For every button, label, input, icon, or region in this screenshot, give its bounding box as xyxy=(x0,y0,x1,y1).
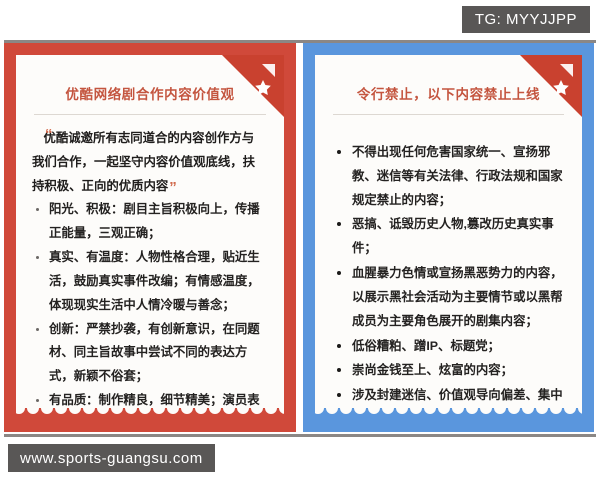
telegram-watermark: TG: MYYJJPP xyxy=(462,6,590,33)
card-body-right: 不得出现任何危害国家统一、宣扬邪教、迷信等有关法律、行政法规和国家规定禁止的内容… xyxy=(315,115,582,406)
site-watermark: www.sports-guangsu.com xyxy=(8,444,215,472)
card-title-right: 令行禁止，以下内容禁止上线 xyxy=(315,55,582,103)
lead-quote-paragraph: “优酷诚邀所有志同道合的内容创作方与我们合作，一起坚守内容价值观底线，扶持积极、… xyxy=(30,127,268,198)
card-content-values: 优酷网络剧合作内容价值观 “优酷诚邀所有志同道合的内容创作方与我们合作，一起坚守… xyxy=(4,43,296,432)
lead-quote-text: 优酷诚邀所有志同道合的内容创作方与我们合作，一起坚守内容价值观底线，扶持积极、正… xyxy=(32,131,255,193)
card-title-left: 优酷网络剧合作内容价值观 xyxy=(16,55,284,103)
list-item: 阳光、积极：剧目主旨积极向上，传播正能量，三观正确； xyxy=(32,198,268,246)
scalloped-edge-left xyxy=(16,406,284,418)
card-sheet-left: 优酷网络剧合作内容价值观 “优酷诚邀所有志同道合的内容创作方与我们合作，一起坚守… xyxy=(16,55,284,406)
bottom-divider-rule xyxy=(4,434,596,437)
card-prohibited-content: 令行禁止，以下内容禁止上线 不得出现任何危害国家统一、宣扬邪教、迷信等有关法律、… xyxy=(303,43,594,432)
list-item: 血腥暴力色情或宣扬黑恶势力的内容，以展示黑社会活动为主要情节或以黑帮成员为主要角… xyxy=(333,262,568,333)
quote-close-mark: ” xyxy=(169,179,177,196)
prohibited-list: 不得出现任何危害国家统一、宣扬邪教、迷信等有关法律、行政法规和国家规定禁止的内容… xyxy=(331,141,568,406)
card-body-left: “优酷诚邀所有志同道合的内容创作方与我们合作，一起坚守内容价值观底线，扶持积极、… xyxy=(16,115,284,406)
quote-open-mark: “ xyxy=(45,126,53,143)
scalloped-edge-right xyxy=(315,406,582,418)
list-item: 涉及封建迷信、价值观导向偏差、集中过度展示人性阴暗面。 xyxy=(333,384,568,406)
list-item: 不得出现任何危害国家统一、宣扬邪教、迷信等有关法律、行政法规和国家规定禁止的内容… xyxy=(333,141,568,212)
list-item: 崇尚金钱至上、炫富的内容； xyxy=(333,359,568,383)
list-item: 恶搞、诋毁历史人物,篡改历史真实事件； xyxy=(333,213,568,261)
list-item: 低俗糟粕、蹭IP、标题党； xyxy=(333,335,568,359)
card-sheet-right: 令行禁止，以下内容禁止上线 不得出现任何危害国家统一、宣扬邪教、迷信等有关法律、… xyxy=(315,55,582,406)
values-list: 阳光、积极：剧目主旨积极向上，传播正能量，三观正确； 真实、有温度：人物性格合理… xyxy=(30,198,268,406)
list-item: 真实、有温度：人物性格合理，贴近生活，鼓励真实事件改编；有情感温度，体现现实生活… xyxy=(32,246,268,317)
poster-canvas: 优酷网络剧合作内容价值观 “优酷诚邀所有志同道合的内容创作方与我们合作，一起坚守… xyxy=(0,0,600,480)
list-item: 有品质：制作精良，细节精美；演员表演完成度好。 xyxy=(32,389,268,406)
list-item: 创新：严禁抄袭，有创新意识，在同题材、同主旨故事中尝试不同的表达方式，新颖不俗套… xyxy=(32,318,268,389)
